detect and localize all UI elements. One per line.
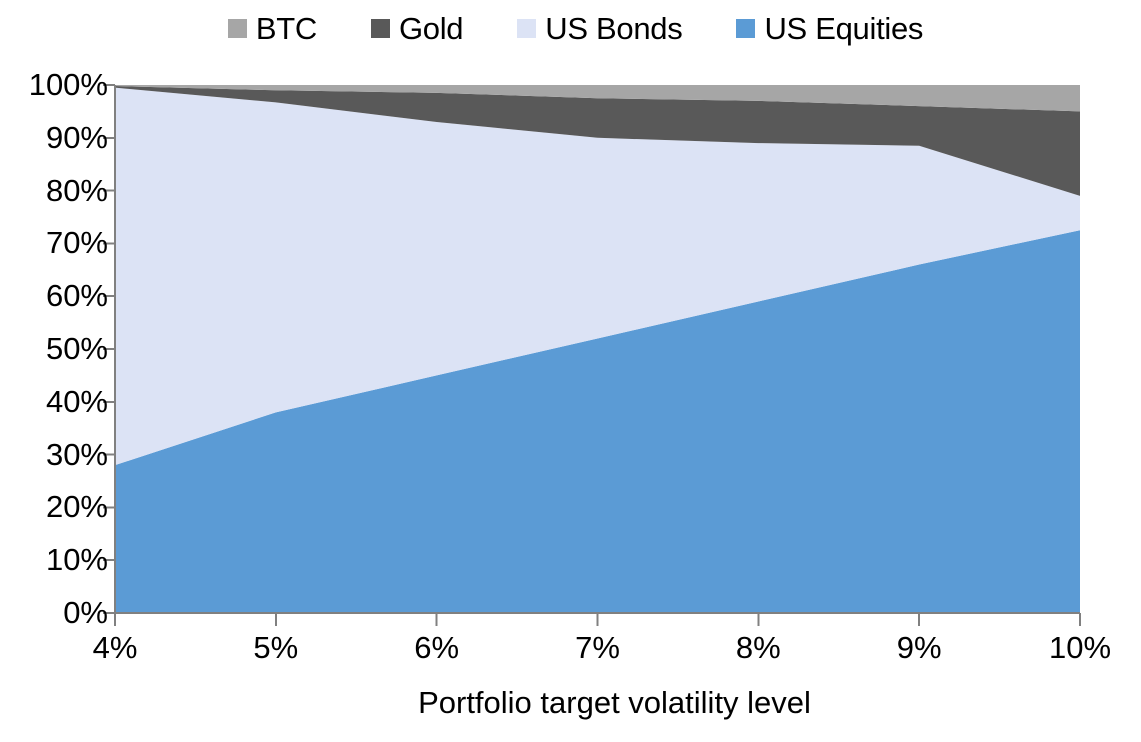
- x-axis-title: Portfolio target volatility level: [0, 685, 1141, 721]
- x-axis-tick-label: 9%: [897, 629, 942, 667]
- y-axis-tick-label: 70%: [2, 227, 108, 258]
- stacked-area-chart: BTC Gold US Bonds US Equities 100%90%80%…: [0, 0, 1141, 742]
- y-axis-tick-label: 20%: [2, 491, 108, 522]
- y-axis-tick-label: 0%: [2, 597, 108, 628]
- x-axis-tick-label: 5%: [253, 629, 298, 667]
- x-axis-tick-label: 7%: [575, 629, 620, 667]
- y-axis-tick-label: 10%: [2, 544, 108, 575]
- x-axis-tick-label: 10%: [1049, 629, 1111, 667]
- area-series-group: [115, 85, 1080, 613]
- x-axis-tick-label: 4%: [93, 629, 138, 667]
- y-axis-tick-label: 40%: [2, 386, 108, 417]
- y-axis-tick-label: 50%: [2, 333, 108, 364]
- x-axis-tick-label: 6%: [414, 629, 459, 667]
- x-axis-tick-label: 8%: [736, 629, 781, 667]
- y-axis-tick-label: 100%: [2, 69, 108, 100]
- x-axis-tick-labels: 4%5%6%7%8%9%10%: [0, 629, 1141, 673]
- y-axis-tick-label: 60%: [2, 280, 108, 311]
- y-axis-tick-label: 90%: [2, 122, 108, 153]
- y-axis-tick-label: 30%: [2, 439, 108, 470]
- y-axis-tick-label: 80%: [2, 175, 108, 206]
